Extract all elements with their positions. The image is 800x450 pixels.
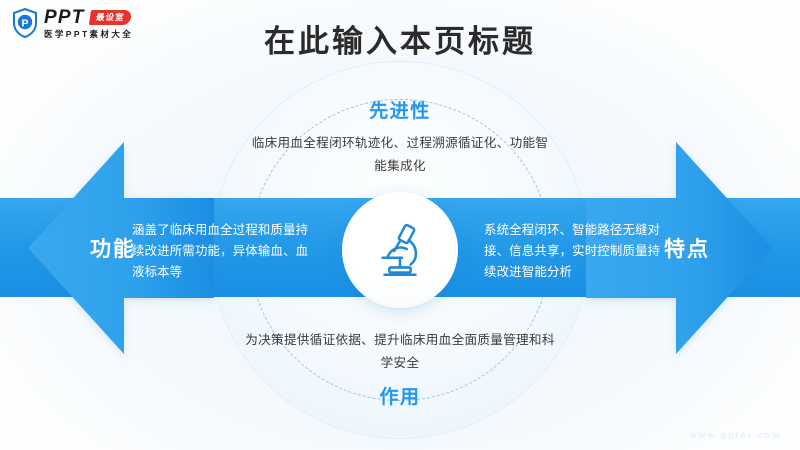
section-top: 先进性 临床用血全程闭环轨迹化、过程溯源循证化、功能智能集成化 xyxy=(250,96,550,178)
center-icon-badge[interactable] xyxy=(342,192,458,308)
page-title: 在此输入本页标题 xyxy=(0,16,800,61)
section-left: 涵盖了临床用血全过程和质量持续改进所需功能，异体输血、血液标本等 xyxy=(132,219,316,282)
microscope-icon xyxy=(369,219,431,281)
left-arrow-label: 功能 xyxy=(90,233,136,263)
section-bottom-heading: 作用 xyxy=(245,382,555,409)
section-right: 系统全程闭环、智能路径无缝对接、信息共享，实时控制质量持续改进智能分析 xyxy=(484,219,668,282)
right-arrow-label: 特点 xyxy=(664,233,710,263)
slide-canvas: P PPT 最设室 医学PPT素材大全 在此输入本页标题 xyxy=(0,0,800,450)
section-bottom-body: 为决策提供循证依据、提升临床用血全面质量管理和科学安全 xyxy=(245,328,555,375)
watermark: www.ppter.com xyxy=(690,430,782,440)
section-top-heading: 先进性 xyxy=(250,96,550,123)
section-left-body: 涵盖了临床用血全过程和质量持续改进所需功能，异体输血、血液标本等 xyxy=(132,219,316,282)
section-top-body: 临床用血全程闭环轨迹化、过程溯源循证化、功能智能集成化 xyxy=(250,131,550,178)
section-right-body: 系统全程闭环、智能路径无缝对接、信息共享，实时控制质量持续改进智能分析 xyxy=(484,219,668,282)
section-bottom: 为决策提供循证依据、提升临床用血全面质量管理和科学安全 作用 xyxy=(245,328,555,409)
